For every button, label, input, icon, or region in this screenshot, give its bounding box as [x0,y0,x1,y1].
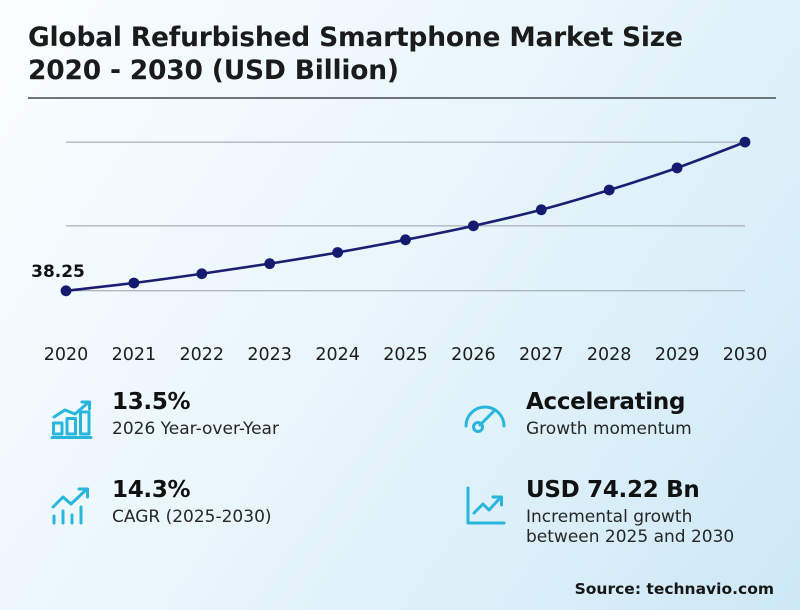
stat-label: Growth momentum [526,419,692,440]
stat-card-incremental: USD 74.22 Bn Incremental growth between … [460,478,734,548]
page-title: Global Refurbished Smartphone Market Siz… [28,22,772,87]
x-tick-2020: 2020 [31,345,101,365]
axis-trend-arrow-icon [460,480,512,532]
x-tick-2022: 2022 [167,345,237,365]
title-line-2: 2020 - 2030 (USD Billion) [28,55,772,88]
x-tick-2023: 2023 [235,345,305,365]
x-tick-2024: 2024 [303,345,373,365]
x-axis-labels: 2020202120222023202420252026202720282029… [0,345,800,371]
stat-value: USD 74.22 Bn [526,478,734,504]
x-tick-2030: 2030 [710,345,780,365]
title-line-1: Global Refurbished Smartphone Market Siz… [28,22,772,55]
data-point-2030 [740,137,751,148]
chart-svg: 38.25 [0,108,800,348]
data-point-2026 [468,220,479,231]
gauge-speedometer-icon [460,392,512,444]
data-point-2023 [264,258,275,269]
title-divider [28,97,776,99]
bar-chart-growth-icon [46,392,98,444]
stat-label-second-line: between 2025 and 2030 [526,527,734,548]
stat-label: Incremental growth [526,507,734,528]
stat-card-cagr: 14.3% CAGR (2025-2030) [46,478,272,532]
stat-label: 2026 Year-over-Year [112,419,279,440]
stats-grid: 13.5% 2026 Year-over-Year 1 [0,382,800,572]
stat-value: Accelerating [526,390,692,416]
x-tick-2025: 2025 [371,345,441,365]
x-tick-2026: 2026 [438,345,508,365]
data-point-2027 [536,204,547,215]
data-point-2025 [400,234,411,245]
data-point-2028 [604,185,615,196]
series-line [66,142,745,291]
stat-label: CAGR (2025-2030) [112,507,272,528]
stat-card-yoy: 13.5% 2026 Year-over-Year [46,390,279,444]
x-tick-2029: 2029 [642,345,712,365]
infographic-page: Global Refurbished Smartphone Market Siz… [0,0,800,610]
stat-value: 14.3% [112,478,272,504]
line-chart: 38.25 [0,108,800,348]
x-tick-2028: 2028 [574,345,644,365]
trend-up-bars-icon [46,480,98,532]
stat-card-momentum: Accelerating Growth momentum [460,390,692,444]
series-markers [61,137,751,297]
stat-value: 13.5% [112,390,279,416]
data-point-2029 [672,162,683,173]
data-point-2022 [196,268,207,279]
data-point-label-2020: 38.25 [31,262,85,282]
chart-gridlines [66,142,745,291]
x-tick-2027: 2027 [506,345,576,365]
data-point-2021 [129,278,140,289]
source-note: Source: technavio.com [575,580,774,598]
x-tick-2021: 2021 [99,345,169,365]
data-point-2020 [61,285,72,296]
data-point-2024 [332,247,343,258]
